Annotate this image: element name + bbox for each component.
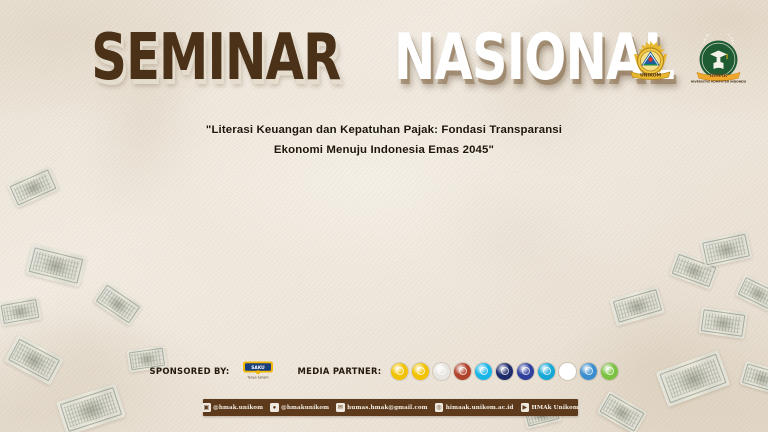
- footer-contact-text: HMAk Unikom: [532, 405, 579, 411]
- footer-contact-item[interactable]: ▣@hmak.unikom: [202, 403, 263, 412]
- media-partner-logo-4: [454, 363, 471, 380]
- media-partner-logo-1: [391, 363, 408, 380]
- media-partner-logo-7: [517, 363, 534, 380]
- footer-contact-text: @hmakunikom: [281, 405, 329, 411]
- footer-contact-text: @hmak.unikom: [213, 405, 263, 411]
- whatsapp-icon: ●: [270, 403, 279, 412]
- website-icon: ◎: [435, 403, 444, 412]
- media-partner-logo-5: [475, 363, 492, 380]
- banknote-5: [56, 383, 126, 432]
- subtitle: "Literasi Keuangan dan Kepatuhan Pajak: …: [0, 120, 768, 161]
- media-partner-logo-3: [433, 363, 450, 380]
- organizer-logo-row: UNIKOM HIMPUNAN MAHASISWA AKUNTANSI: [623, 34, 746, 89]
- footer-contact-item[interactable]: ●@hmakunikom: [270, 403, 329, 412]
- media-partner-logo-11: [601, 363, 618, 380]
- banknote-15: [597, 391, 648, 432]
- media-partner-logo-6: [496, 363, 513, 380]
- unikom-logo: UNIKOM: [623, 34, 678, 89]
- banknote-12: [698, 307, 747, 339]
- banknote-2: [25, 244, 87, 288]
- subtitle-line-1: "Literasi Keuangan dan Kepatuhan Pajak: …: [0, 120, 768, 140]
- partners-row: SPONSORED BY: SAKU Tanya Saham MEDIA PAR…: [0, 360, 768, 382]
- title-seminar: SEMINAR: [91, 26, 340, 90]
- footer-contact-bar: ▣@hmak.unikom●@hmakunikom✉humas.hmak@gma…: [203, 399, 578, 416]
- media-partner-logo-8: [538, 363, 555, 380]
- media-partner-logo-2: [412, 363, 429, 380]
- subtitle-line-2: Ekonomi Menuju Indonesia Emas 2045": [0, 140, 768, 160]
- banknote-11: [735, 274, 768, 312]
- instagram-icon: ▣: [202, 403, 211, 412]
- banknote-9: [669, 251, 719, 290]
- svg-text:UNIKOM: UNIKOM: [640, 72, 662, 78]
- svg-text:UNIVERSITAS KOMPUTER INDONESIA: UNIVERSITAS KOMPUTER INDONESIA: [691, 80, 746, 84]
- email-icon: ✉: [336, 403, 345, 412]
- footer-contact-text: humas.hmak@gmail.com: [347, 405, 428, 411]
- sponsored-by-label: SPONSORED BY:: [150, 366, 230, 376]
- svg-text:SAKU: SAKU: [251, 365, 265, 371]
- footer-contact-item[interactable]: ◎himaak.unikom.ac.id: [435, 403, 514, 412]
- footer-contact-item[interactable]: ▶HMAk Unikom: [521, 403, 579, 412]
- svg-text:Tanya Saham: Tanya Saham: [246, 376, 268, 380]
- footer-contact-item[interactable]: ✉humas.hmak@gmail.com: [336, 403, 428, 412]
- media-partner-logo-row: [391, 363, 618, 380]
- banknote-6: [93, 282, 143, 327]
- banknote-1: [7, 167, 59, 209]
- media-partner-logo-10: [580, 363, 597, 380]
- youtube-icon: ▶: [521, 403, 530, 412]
- media-partner-label: MEDIA PARTNER:: [298, 366, 382, 376]
- footer-contact-text: himaak.unikom.ac.id: [446, 405, 514, 411]
- sponsor-logo: SAKU Tanya Saham: [240, 360, 276, 382]
- media-partner-logo-9: [559, 363, 576, 380]
- himak-logo: HIMPUNAN MAHASISWA AKUNTANSI HIMAK UNIVE…: [691, 34, 746, 89]
- seminar-poster: SEMINARNASIONAL "Literasi Keuangan dan K…: [0, 0, 768, 432]
- banknote-3: [0, 297, 42, 327]
- svg-text:HIMAK: HIMAK: [710, 73, 728, 78]
- banknote-8: [609, 286, 665, 327]
- banknote-10: [700, 231, 753, 267]
